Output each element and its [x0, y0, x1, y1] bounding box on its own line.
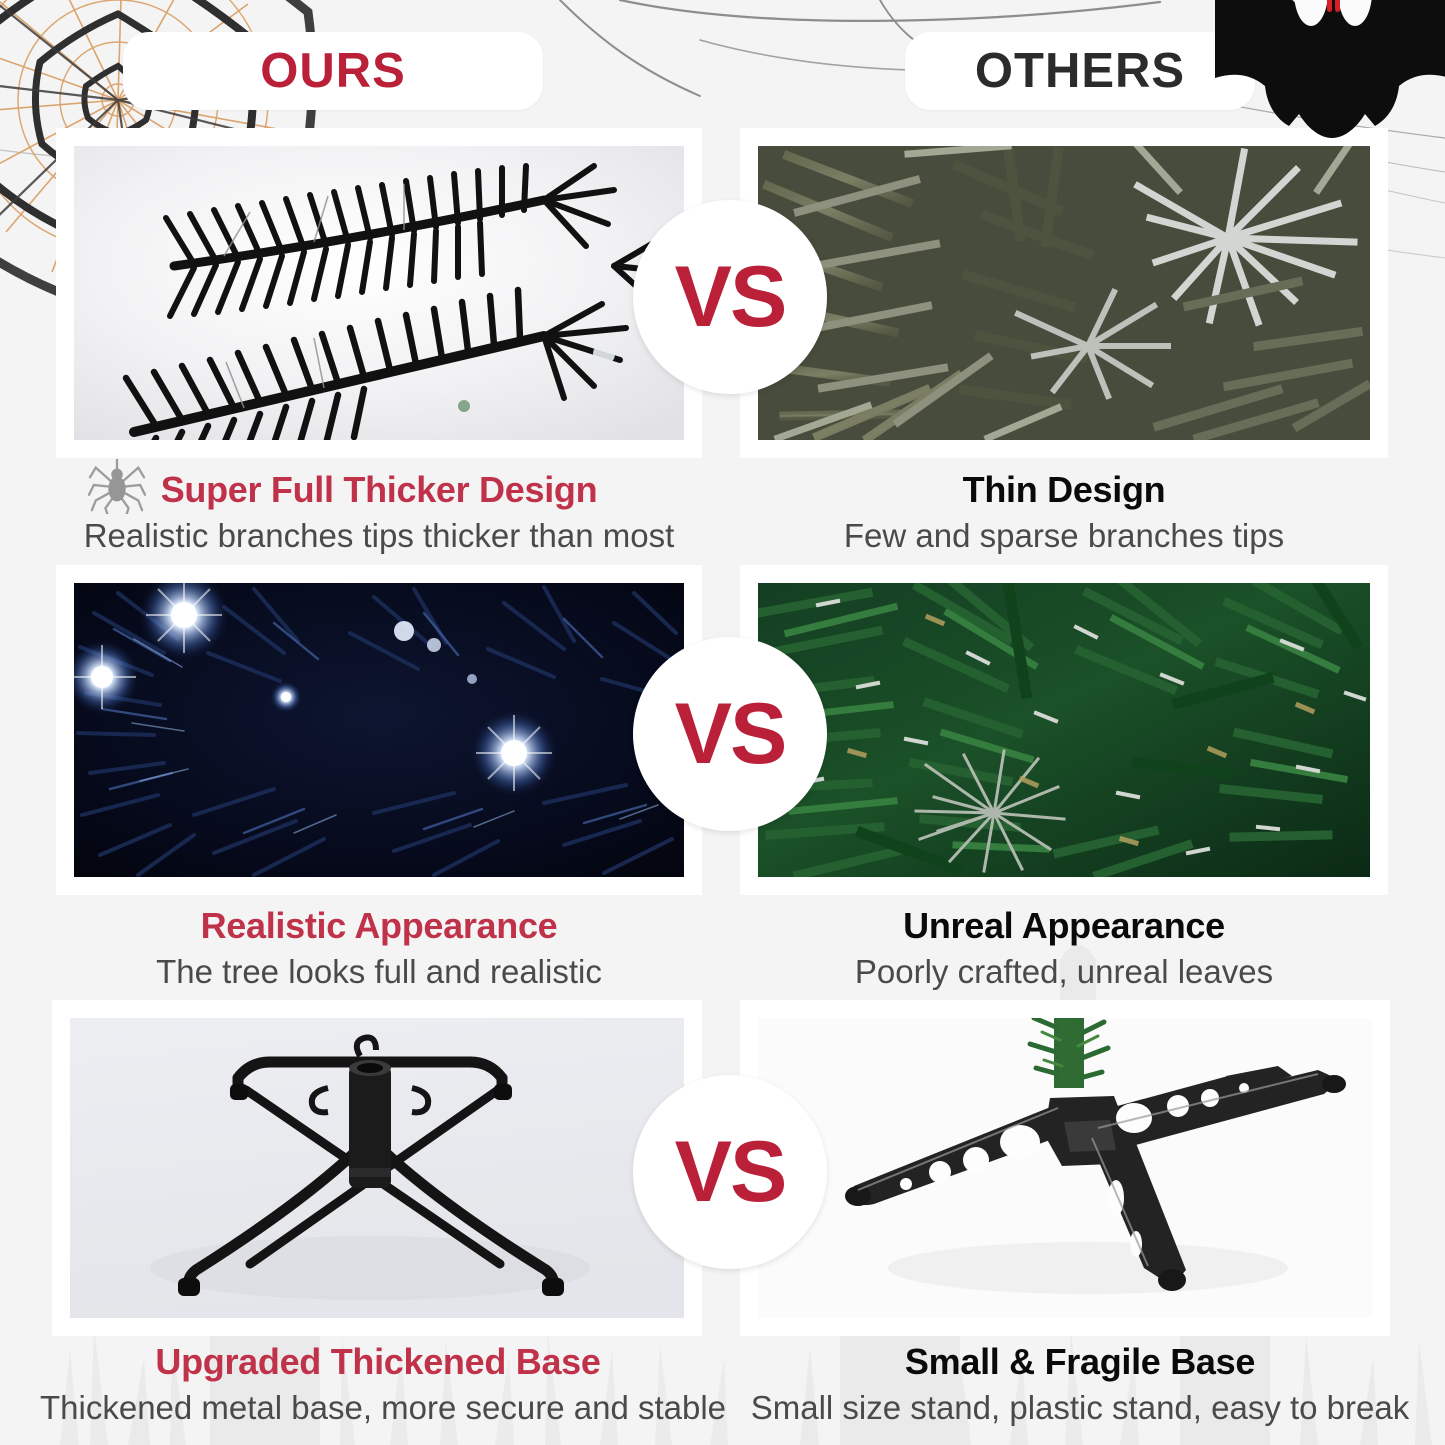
others-row1-photo: [758, 146, 1370, 440]
ours-header-pill: OURS: [123, 32, 543, 110]
others-row1-caption: Thin Design Few and sparse branches tips: [740, 472, 1388, 552]
vs-badge-row2: VS: [633, 637, 827, 831]
ours-row1-subtitle: Realistic branches tips thicker than mos…: [56, 519, 702, 552]
ours-row1-photo: [74, 146, 684, 440]
ours-row3-subtitle: Thickened metal base, more secure and st…: [40, 1391, 716, 1424]
ours-row2-photo: [74, 583, 684, 877]
ours-row2-subtitle: The tree looks full and realistic: [56, 955, 702, 988]
ours-row1-title: Super Full Thicker Design: [56, 472, 702, 508]
ours-row3-card: [52, 1000, 702, 1336]
others-row3-title: Small & Fragile Base: [730, 1344, 1430, 1380]
others-row2-photo: [758, 583, 1370, 877]
ours-row3-title: Upgraded Thickened Base: [40, 1344, 716, 1380]
ours-row2-title: Realistic Appearance: [56, 908, 702, 944]
spider-icon: [88, 458, 146, 514]
ours-row1-card: [56, 128, 702, 458]
ours-row1-caption: Super Full Thicker Design Realistic bran…: [56, 472, 702, 552]
vs-badge-row1: VS: [633, 200, 827, 394]
others-header-label: OTHERS: [975, 43, 1185, 99]
others-row3-subtitle: Small size stand, plastic stand, easy to…: [730, 1391, 1430, 1424]
others-row2-caption: Unreal Appearance Poorly crafted, unreal…: [740, 908, 1388, 988]
others-header-pill: OTHERS: [905, 32, 1255, 110]
others-row1-subtitle: Few and sparse branches tips: [740, 519, 1388, 552]
others-row3-caption: Small & Fragile Base Small size stand, p…: [730, 1344, 1430, 1424]
vs-label-row2: VS: [675, 685, 786, 784]
others-row1-card: [740, 128, 1388, 458]
vs-badge-row3: VS: [633, 1075, 827, 1269]
ours-row2-caption: Realistic Appearance The tree looks full…: [56, 908, 702, 988]
vs-label-row1: VS: [675, 248, 786, 347]
ours-row3-caption: Upgraded Thickened Base Thickened metal …: [40, 1344, 716, 1424]
comparison-board: OURS OTHERS: [0, 0, 1445, 1445]
others-row3-photo: [758, 1018, 1372, 1318]
others-row2-card: [740, 565, 1388, 895]
ours-header-label: OURS: [260, 43, 406, 99]
others-row2-title: Unreal Appearance: [740, 908, 1388, 944]
bat-eye-left-icon: [1327, 0, 1332, 12]
others-row1-title: Thin Design: [740, 472, 1388, 508]
bat-eye-right-icon: [1335, 0, 1340, 12]
ours-row2-card: [56, 565, 702, 895]
ours-row3-photo: [70, 1018, 684, 1318]
others-row2-subtitle: Poorly crafted, unreal leaves: [740, 955, 1388, 988]
bat-icon: [1215, 0, 1445, 151]
vs-label-row3: VS: [675, 1123, 786, 1222]
others-row3-card: [740, 1000, 1390, 1336]
